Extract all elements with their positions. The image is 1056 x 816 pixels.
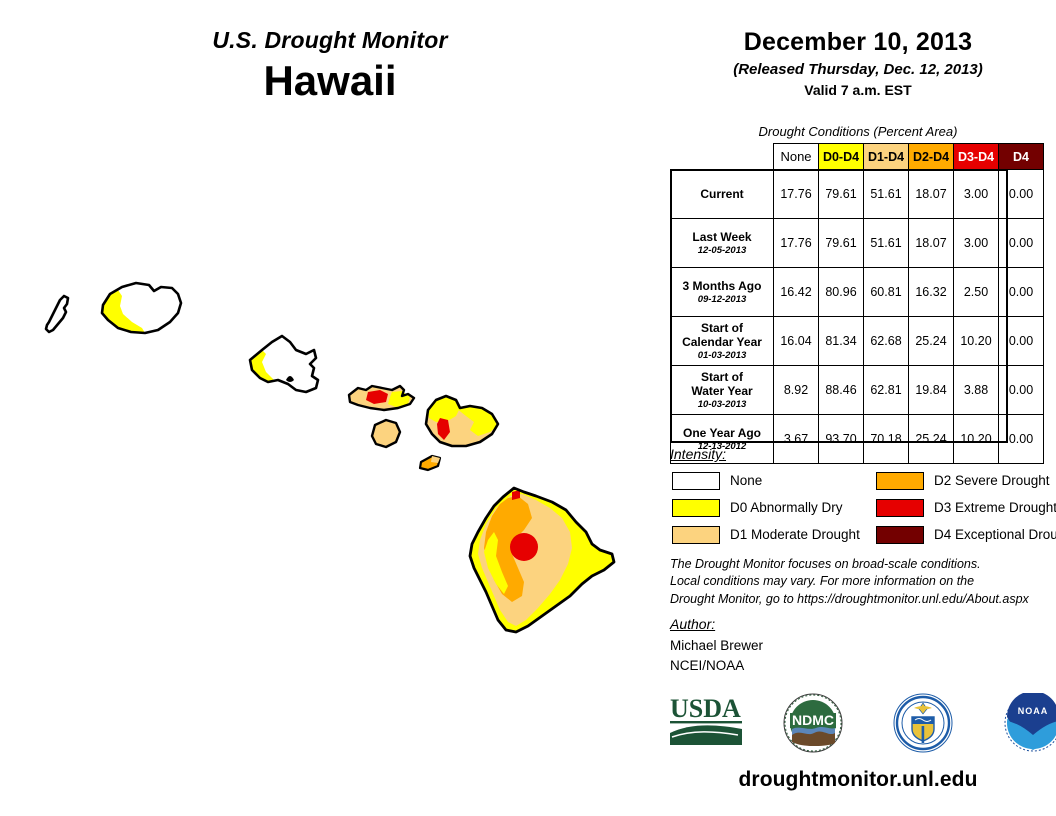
cell-d1-d4: 51.61 — [864, 170, 909, 219]
cell-d2-d4: 25.24 — [909, 317, 954, 366]
cell-d1-d4: 70.18 — [864, 415, 909, 464]
title-block: U.S. Drought Monitor Hawaii — [0, 28, 660, 103]
legend-item: D1 Moderate Drought — [672, 522, 860, 547]
svg-text:USDA: USDA — [670, 694, 741, 723]
legend-label: D1 Moderate Drought — [730, 527, 860, 542]
table-col-header-d1-d4: D1-D4 — [864, 144, 909, 170]
island-niihau — [46, 296, 68, 332]
drought-conditions-table: NoneD0-D4D1-D4D2-D4D3-D4D4 Current17.767… — [670, 143, 1044, 464]
row-date: 09-12-2013 — [674, 294, 770, 305]
release-date: (Released Thursday, Dec. 12, 2013) — [660, 61, 1056, 78]
cell-d4: 0.00 — [999, 366, 1044, 415]
cell-d3-d4: 3.88 — [954, 366, 999, 415]
table-caption: Drought Conditions (Percent Area) — [660, 124, 1056, 139]
legend-column-left: NoneD0 Abnormally DryD1 Moderate Drought — [672, 468, 860, 549]
table-col-header-d0-d4: D0-D4 — [819, 144, 864, 170]
island-kahoolawe — [420, 456, 440, 470]
legend-item: D3 Extreme Drought — [876, 495, 1056, 520]
legend-label: D2 Severe Drought — [934, 473, 1050, 488]
cell-none: 3.67 — [774, 415, 819, 464]
legend-column-right: D2 Severe DroughtD3 Extreme DroughtD4 Ex… — [876, 468, 1056, 549]
author-block: Michael Brewer NCEI/NOAA — [670, 636, 763, 675]
legend-swatch — [672, 472, 720, 490]
valid-time: Valid 7 a.m. EST — [660, 82, 1056, 98]
cell-d2-d4: 18.07 — [909, 170, 954, 219]
table-row: Last Week12-05-201317.7679.6151.6118.073… — [671, 219, 1044, 268]
row-label: Last Week12-05-2013 — [671, 219, 774, 268]
table-header: NoneD0-D4D1-D4D2-D4D3-D4D4 — [671, 144, 1044, 170]
legend-label: D3 Extreme Drought — [934, 500, 1056, 515]
legend-swatch — [672, 499, 720, 517]
cell-d2-d4: 25.24 — [909, 415, 954, 464]
cell-d4: 0.00 — [999, 268, 1044, 317]
cell-d3-d4: 3.00 — [954, 170, 999, 219]
row-date: 12-05-2013 — [674, 245, 770, 256]
cell-d0-d4: 93.70 — [819, 415, 864, 464]
table-row: 3 Months Ago09-12-201316.4280.9660.8116.… — [671, 268, 1044, 317]
island-kauai — [102, 283, 181, 333]
disclaimer-line: Drought Monitor, go to https://droughtmo… — [670, 591, 1056, 608]
table-row: One Year Ago12-13-20123.6793.7070.1825.2… — [671, 415, 1044, 464]
legend-item: None — [672, 468, 860, 493]
cell-d2-d4: 19.84 — [909, 366, 954, 415]
table-row: Current17.7679.6151.6118.073.000.00 — [671, 170, 1044, 219]
author-heading: Author: — [670, 616, 715, 632]
cell-d3-d4: 10.20 — [954, 317, 999, 366]
island-oahu — [250, 336, 318, 392]
disclaimer-text: The Drought Monitor focuses on broad-sca… — [670, 556, 1056, 608]
row-date: 01-03-2013 — [674, 350, 770, 361]
region-title: Hawaii — [0, 59, 660, 103]
svg-text:NOAA: NOAA — [1018, 706, 1049, 716]
row-label: Start ofWater Year10-03-2013 — [671, 366, 774, 415]
cell-d0-d4: 80.96 — [819, 268, 864, 317]
intensity-heading: Intensity: — [670, 446, 726, 462]
legend-swatch — [672, 526, 720, 544]
cell-d2-d4: 18.07 — [909, 219, 954, 268]
legend-swatch — [876, 472, 924, 490]
cell-d3-d4: 2.50 — [954, 268, 999, 317]
row-date: 10-03-2013 — [674, 399, 770, 410]
table-body: Current17.7679.6151.6118.073.000.00Last … — [671, 170, 1044, 464]
legend-swatch — [876, 499, 924, 517]
legend-item: D2 Severe Drought — [876, 468, 1056, 493]
legend-label: D4 Exceptional Drought — [934, 527, 1056, 542]
table-col-header-none: None — [774, 144, 819, 170]
legend-label: D0 Abnormally Dry — [730, 500, 843, 515]
usdoc-logo — [892, 693, 954, 753]
cell-d4: 0.00 — [999, 415, 1044, 464]
island-hawaii — [470, 488, 614, 632]
cell-d4: 0.00 — [999, 317, 1044, 366]
hawaii-drought-map — [0, 250, 660, 670]
cell-d3-d4: 3.00 — [954, 219, 999, 268]
header-block: December 10, 2013 (Released Thursday, De… — [660, 28, 1056, 98]
ndmc-logo: NDMC — [782, 693, 844, 753]
usda-logo: USDA — [668, 693, 746, 751]
cell-d0-d4: 88.46 — [819, 366, 864, 415]
cell-none: 17.76 — [774, 170, 819, 219]
table-col-header-d4: D4 — [999, 144, 1044, 170]
noaa-logo: NOAA — [1002, 693, 1056, 753]
author-affiliation: NCEI/NOAA — [670, 656, 763, 676]
legend-item: D4 Exceptional Drought — [876, 522, 1056, 547]
cell-d4: 0.00 — [999, 170, 1044, 219]
island-maui — [426, 396, 498, 446]
author-name: Michael Brewer — [670, 636, 763, 656]
cell-d1-d4: 62.81 — [864, 366, 909, 415]
legend-label: None — [730, 473, 762, 488]
row-label: Current — [671, 170, 774, 219]
logo-row: USDA NDMC NOAA — [660, 693, 1056, 755]
legend-swatch — [876, 526, 924, 544]
valid-date: December 10, 2013 — [660, 28, 1056, 57]
table-col-header-d2-d4: D2-D4 — [909, 144, 954, 170]
cell-d1-d4: 51.61 — [864, 219, 909, 268]
row-label: Start ofCalendar Year01-03-2013 — [671, 317, 774, 366]
table-row: Start ofCalendar Year01-03-201316.0481.3… — [671, 317, 1044, 366]
disclaimer-line: The Drought Monitor focuses on broad-sca… — [670, 556, 1056, 573]
table-row: Start ofWater Year10-03-20138.9288.4662.… — [671, 366, 1044, 415]
cell-d1-d4: 62.68 — [864, 317, 909, 366]
svg-text:NDMC: NDMC — [792, 712, 834, 728]
cell-none: 16.42 — [774, 268, 819, 317]
cell-d3-d4: 10.20 — [954, 415, 999, 464]
site-url: droughtmonitor.unl.edu — [660, 768, 1056, 792]
header-spacer — [671, 144, 774, 170]
cell-d0-d4: 79.61 — [819, 170, 864, 219]
legend-item: D0 Abnormally Dry — [672, 495, 860, 520]
table-col-header-d3-d4: D3-D4 — [954, 144, 999, 170]
cell-d2-d4: 16.32 — [909, 268, 954, 317]
cell-d1-d4: 60.81 — [864, 268, 909, 317]
cell-d0-d4: 79.61 — [819, 219, 864, 268]
cell-none: 16.04 — [774, 317, 819, 366]
cell-d4: 0.00 — [999, 219, 1044, 268]
disclaimer-line: Local conditions may vary. For more info… — [670, 573, 1056, 590]
island-molokai — [349, 386, 414, 410]
table-header-row: NoneD0-D4D1-D4D2-D4D3-D4D4 — [671, 144, 1044, 170]
cell-none: 8.92 — [774, 366, 819, 415]
cell-d0-d4: 81.34 — [819, 317, 864, 366]
page-title: U.S. Drought Monitor — [0, 28, 660, 53]
row-label: 3 Months Ago09-12-2013 — [671, 268, 774, 317]
cell-none: 17.76 — [774, 219, 819, 268]
island-lanai — [372, 420, 400, 447]
